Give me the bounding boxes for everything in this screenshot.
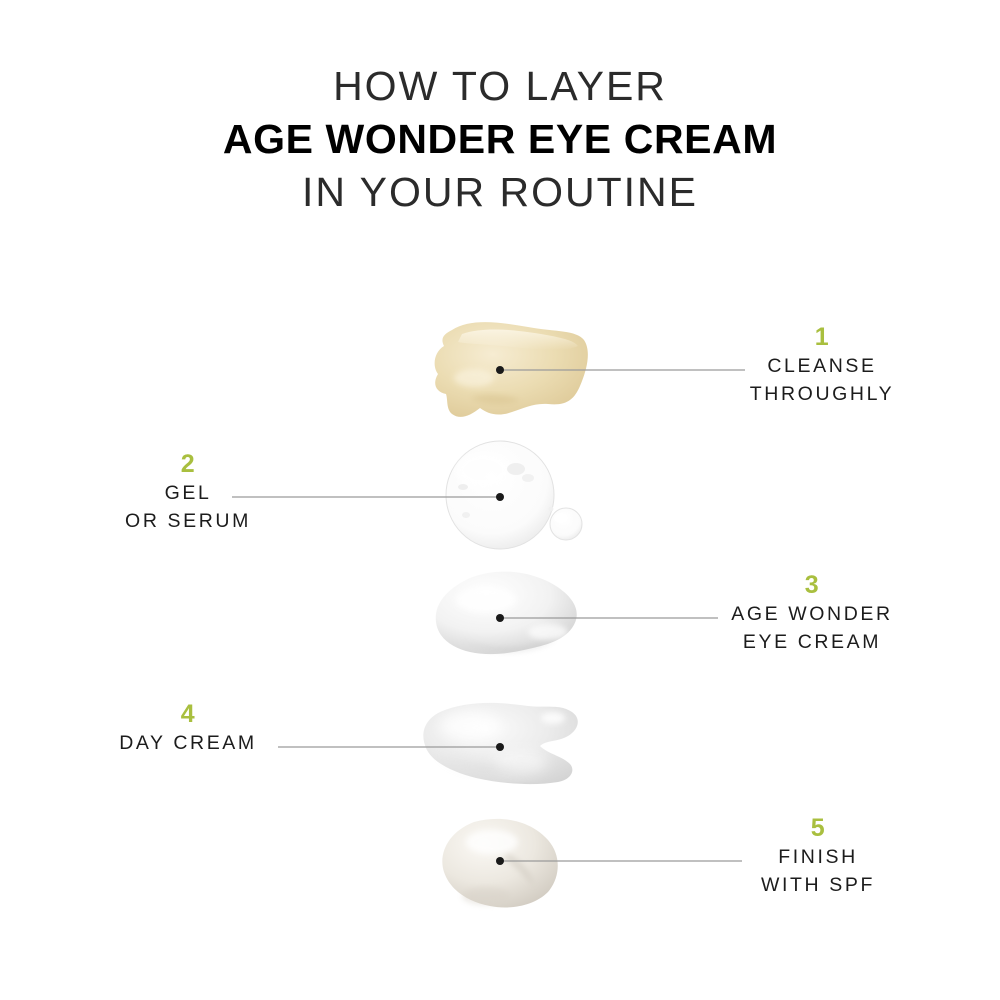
step-number-2: 2 [38,449,338,479]
step-text-1-line1: CLEANSE [672,352,972,380]
step-number-5: 5 [668,813,968,843]
step-label-4: 4 DAY CREAM [38,699,338,757]
gel-serum-swatch [446,441,582,549]
step-label-3: 3 AGE WONDER EYE CREAM [662,570,962,656]
infographic-canvas: HOW TO LAYER AGE WONDER EYE CREAM IN YOU… [0,0,1000,1000]
step-text-2-line2: OR SERUM [38,507,338,535]
cleanser-swatch [435,322,588,417]
step-label-1: 1 CLEANSE THROUGHLY [672,322,972,408]
step-text-3-line2: EYE CREAM [662,628,962,656]
step-number-4: 4 [38,699,338,729]
step-label-2: 2 GEL OR SERUM [38,449,338,535]
step-number-3: 3 [662,570,962,600]
eye-cream-swatch [436,572,577,655]
step-text-2-line1: GEL [38,479,338,507]
step-text-3-line1: AGE WONDER [662,600,962,628]
step-label-5: 5 FINISH WITH SPF [668,813,968,899]
day-cream-swatch [423,703,577,784]
step-text-5-line1: FINISH [668,843,968,871]
step-text-5-line2: WITH SPF [668,871,968,899]
step-number-1: 1 [672,322,972,352]
step-text-4-line1: DAY CREAM [38,729,338,757]
step-text-1-line2: THROUGHLY [672,380,972,408]
spf-swatch [442,819,557,908]
